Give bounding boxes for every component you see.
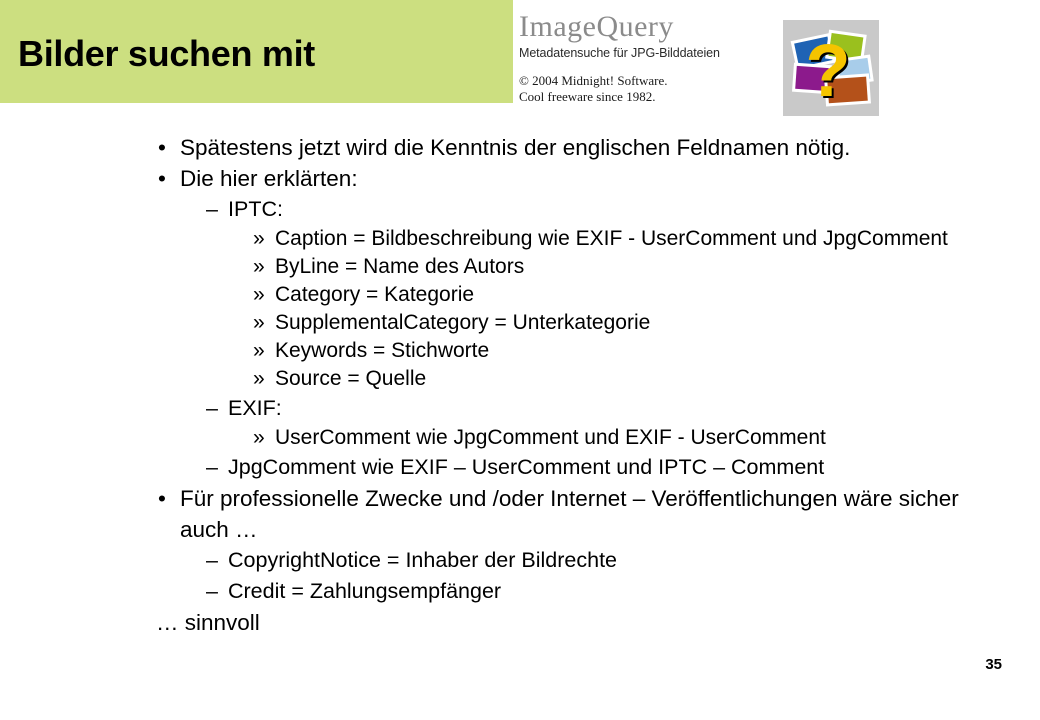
bullet-text: UserComment wie JpgComment und EXIF - Us… — [275, 424, 995, 452]
bullet-marker: » — [253, 225, 265, 253]
bullet-marker: – — [206, 393, 218, 424]
copyright-line-2: Cool freeware since 1982. — [519, 89, 739, 105]
bullet-marker: » — [253, 365, 265, 393]
bullet-item: »UserComment wie JpgComment und EXIF - U… — [0, 424, 1040, 452]
bullet-marker: – — [206, 194, 218, 225]
bullet-marker: » — [253, 253, 265, 281]
bullet-item: •Die hier erklärten: — [0, 163, 1040, 194]
bullet-item: »SupplementalCategory = Unterkategorie — [0, 309, 1040, 337]
bullet-text: JpgComment wie EXIF – UserComment und IP… — [228, 452, 1010, 483]
bullet-item: »Category = Kategorie — [0, 281, 1040, 309]
bullet-marker: • — [158, 163, 166, 194]
bullet-marker: – — [206, 545, 218, 576]
bullet-text: Caption = Bildbeschreibung wie EXIF - Us… — [275, 225, 995, 253]
bullet-text: Source = Quelle — [275, 365, 995, 393]
bullet-text: CopyrightNotice = Inhaber der Bildrechte — [228, 545, 1010, 576]
logo-wordmark: ImageQuery — [519, 12, 739, 42]
bullet-item: »ByLine = Name des Autors — [0, 253, 1040, 281]
bullet-item: –EXIF: — [0, 393, 1040, 424]
bullet-text: Credit = Zahlungsempfänger — [228, 576, 1010, 607]
bullet-text: … sinnvoll — [156, 607, 1040, 638]
bullet-text: Für professionelle Zwecke und /oder Inte… — [180, 483, 1010, 545]
bullet-text: SupplementalCategory = Unterkategorie — [275, 309, 995, 337]
page-title: Bilder suchen mit — [18, 33, 315, 75]
bullet-text: IPTC: — [228, 194, 1010, 225]
logo-copyright: © 2004 Midnight! Software. Cool freeware… — [519, 73, 739, 106]
bullet-item: »Keywords = Stichworte — [0, 337, 1040, 365]
bullet-marker: » — [253, 337, 265, 365]
bullet-item: •Für professionelle Zwecke und /oder Int… — [0, 483, 1040, 545]
bullet-text: Category = Kategorie — [275, 281, 995, 309]
logo-tagline: Metadatensuche für JPG-Bilddateien — [519, 46, 739, 60]
bullet-item: –Credit = Zahlungsempfänger — [0, 576, 1040, 607]
bullet-item: –IPTC: — [0, 194, 1040, 225]
bullet-item: –CopyrightNotice = Inhaber der Bildrecht… — [0, 545, 1040, 576]
bullet-text: Die hier erklärten: — [180, 163, 1010, 194]
slide-body: •Spätestens jetzt wird die Kenntnis der … — [0, 132, 1040, 638]
bullet-marker: – — [206, 452, 218, 483]
bullet-text: Keywords = Stichworte — [275, 337, 995, 365]
bullet-marker: • — [158, 483, 166, 514]
bullet-marker: » — [253, 281, 265, 309]
bullet-marker: • — [158, 132, 166, 163]
bullet-item: »Caption = Bildbeschreibung wie EXIF - U… — [0, 225, 1040, 253]
copyright-line-1: © 2004 Midnight! Software. — [519, 73, 739, 89]
bullet-item: •Spätestens jetzt wird die Kenntnis der … — [0, 132, 1040, 163]
bullet-marker: – — [206, 576, 218, 607]
bullet-item: »Source = Quelle — [0, 365, 1040, 393]
bullet-text: ByLine = Name des Autors — [275, 253, 995, 281]
bullet-text: EXIF: — [228, 393, 1010, 424]
bullet-marker: » — [253, 424, 265, 452]
imagequery-logo-block: ImageQuery Metadatensuche für JPG-Bildda… — [519, 12, 739, 107]
bullet-item: –JpgComment wie EXIF – UserComment und I… — [0, 452, 1040, 483]
imagequery-photos-question-icon: ? ? — [783, 20, 879, 116]
page-number: 35 — [985, 656, 1002, 673]
bullet-marker: » — [253, 309, 265, 337]
bullet-item: … sinnvoll — [0, 607, 1040, 638]
svg-text:?: ? — [805, 29, 850, 112]
product-icon-graphic: ? ? — [783, 20, 879, 116]
bullet-text: Spätestens jetzt wird die Kenntnis der e… — [180, 132, 1010, 163]
